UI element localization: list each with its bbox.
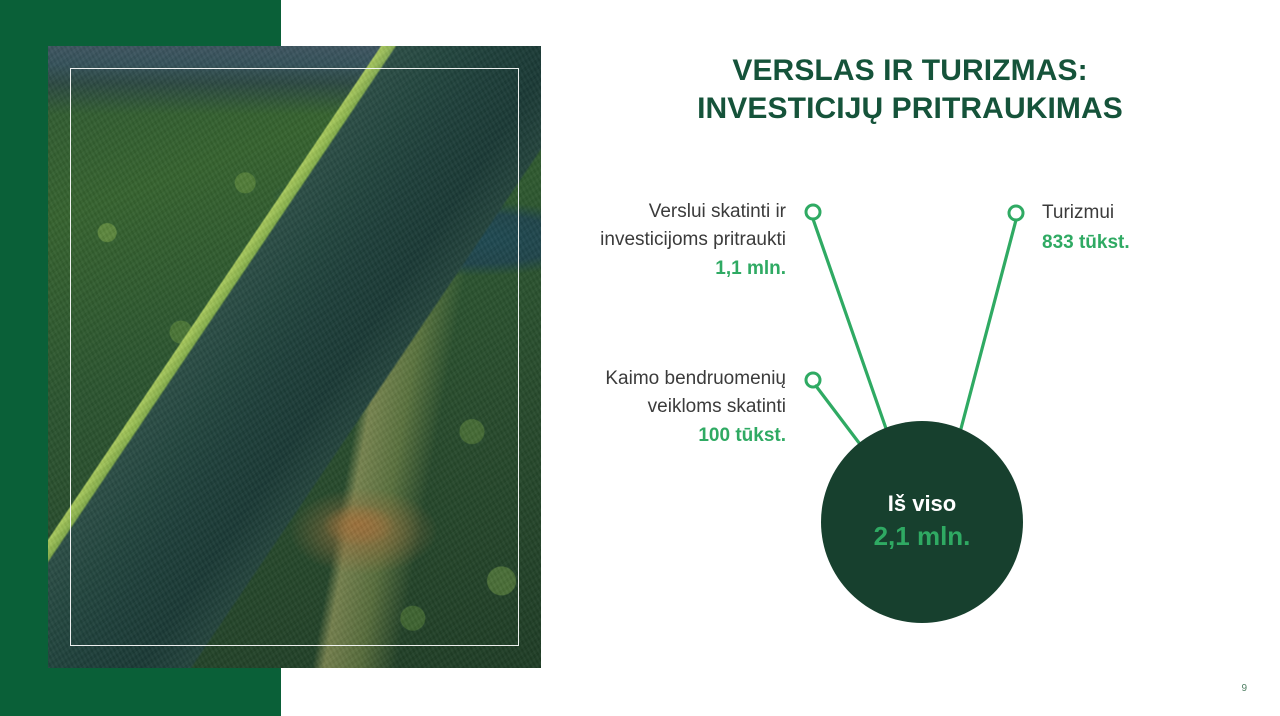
total-hub-circle: Iš viso 2,1 mln.	[821, 421, 1023, 623]
label-business-text: Verslui skatinti ir investicijoms pritra…	[600, 201, 786, 250]
label-rural: Kaimo bendruomenių veikloms skatinti 100…	[560, 365, 786, 450]
investment-diagram: Verslui skatinti ir investicijoms pritra…	[560, 150, 1270, 670]
aerial-forest-river-photo	[48, 46, 541, 668]
connector-line-business	[813, 219, 890, 440]
page-title: VERSLAS IR TURIZMAS: INVESTICIJŲ PRITRAU…	[560, 52, 1260, 128]
label-rural-value: 100 tūkst.	[560, 422, 786, 450]
label-business: Verslui skatinti ir investicijoms pritra…	[560, 198, 786, 283]
label-tourism-text: Turizmui	[1042, 202, 1114, 223]
total-hub-value: 2,1 mln.	[874, 520, 971, 554]
label-tourism: Turizmui 833 tūkst.	[1042, 199, 1252, 256]
node-marker-tourism	[1009, 206, 1023, 220]
page-number: 9	[1241, 683, 1247, 694]
label-tourism-value: 833 tūkst.	[1042, 229, 1252, 257]
slide: VERSLAS IR TURIZMAS: INVESTICIJŲ PRITRAU…	[0, 0, 1280, 716]
label-business-value: 1,1 mln.	[560, 255, 786, 283]
node-marker-business	[806, 205, 820, 219]
page-title-line1: VERSLAS IR TURIZMAS:	[560, 52, 1260, 90]
label-rural-text: Kaimo bendruomenių veikloms skatinti	[605, 368, 786, 417]
total-hub-label: Iš viso	[888, 490, 956, 519]
node-marker-rural	[806, 373, 820, 387]
photo-texture-overlay	[48, 46, 541, 668]
page-title-line2: INVESTICIJŲ PRITRAUKIMAS	[560, 90, 1260, 128]
connector-line-tourism	[958, 220, 1016, 440]
